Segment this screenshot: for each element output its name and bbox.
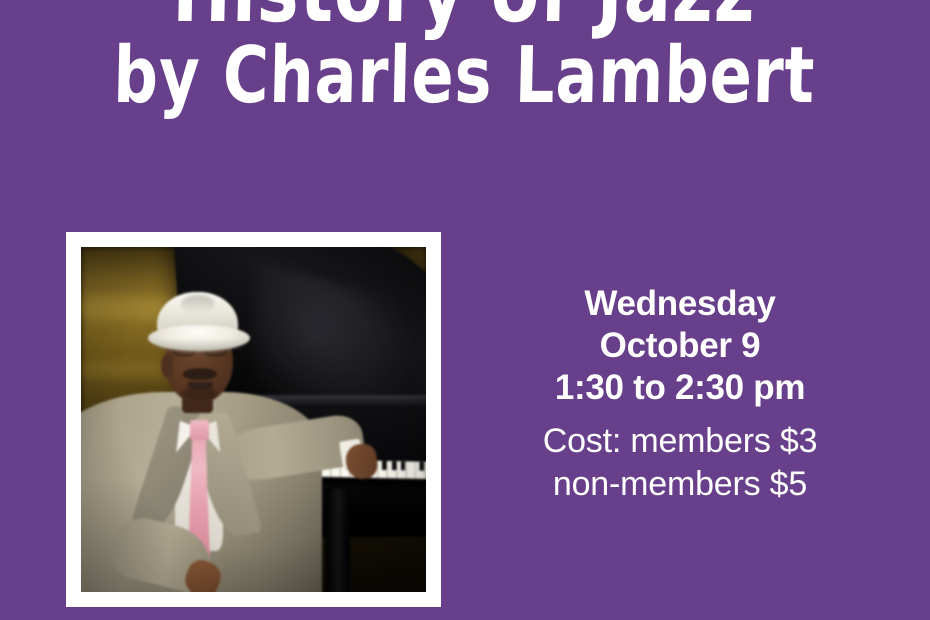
cost-non-members: non-members $5 — [470, 463, 890, 506]
event-date: October 9 — [470, 325, 890, 367]
event-day: Wednesday — [470, 283, 890, 325]
event-poster: History of Jazz by Charles Lambert — [0, 0, 930, 620]
performer-mouth — [188, 382, 213, 390]
performer-mustache — [183, 368, 217, 380]
photo-frame — [66, 232, 441, 607]
fedora-crown-dent — [181, 295, 215, 312]
title-line-byline: by Charles Lambert — [91, 39, 837, 115]
fedora-brim-edge — [148, 339, 250, 353]
title-line-primary: History of Jazz — [91, 0, 837, 33]
event-cost: Cost: members $3 non-members $5 — [470, 420, 890, 505]
necktie-knot — [190, 420, 210, 441]
performer-ear — [161, 354, 173, 378]
poster-title: History of Jazz by Charles Lambert — [0, 0, 930, 115]
cost-members: Cost: members $3 — [470, 420, 890, 463]
event-time: 1:30 to 2:30 pm — [470, 367, 890, 409]
performer-figure — [81, 247, 343, 592]
performer-photo — [81, 247, 426, 592]
event-details: Wednesday October 9 1:30 to 2:30 pm Cost… — [470, 283, 890, 505]
